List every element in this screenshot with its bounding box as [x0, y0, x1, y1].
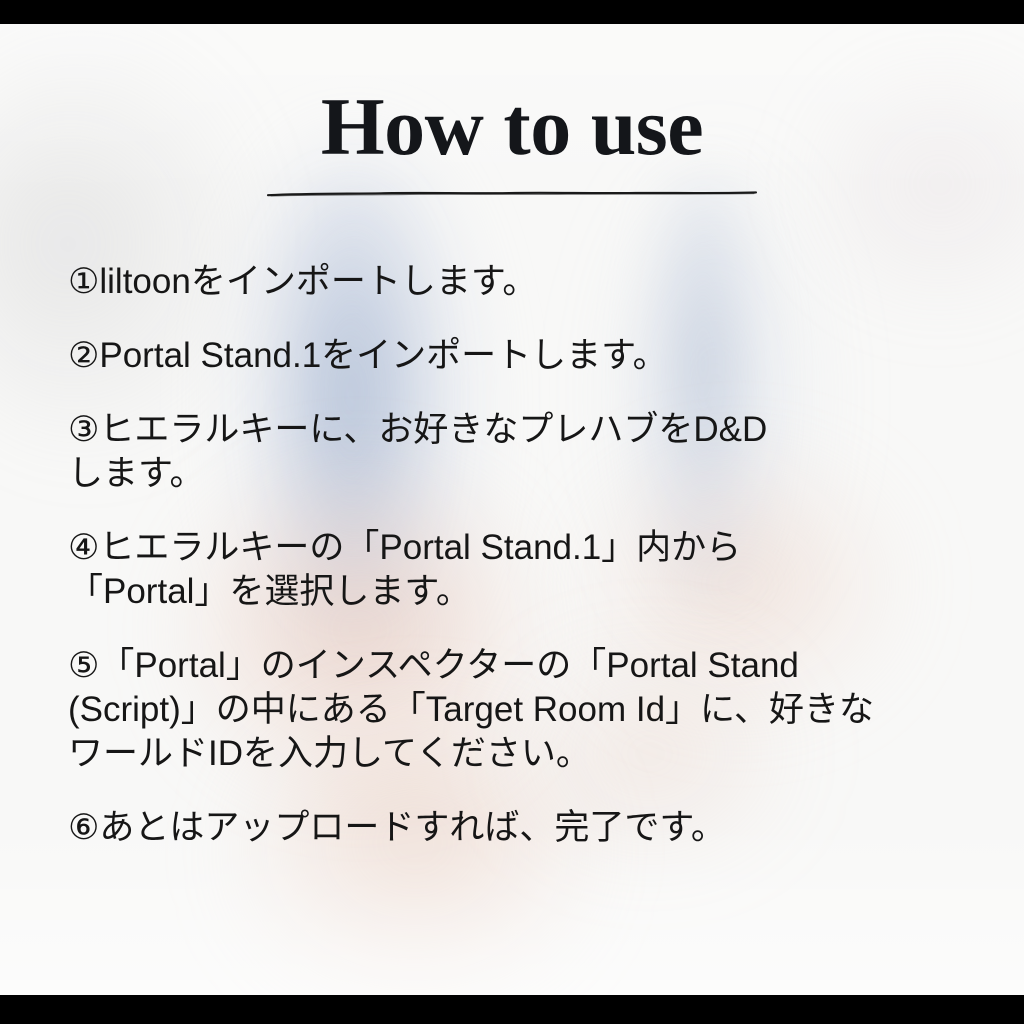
step-line: ①liltoonをインポートします。 [68, 260, 978, 304]
step-line: (Script)」の中にある「Target Room Id」に、好きな [68, 688, 978, 732]
title-block: How to use [0, 79, 1024, 199]
slide-root: How to use ①liltoonをインポートします。 ②Portal St… [0, 0, 1024, 1024]
step-line: します。 [68, 452, 978, 496]
page-title: How to use [0, 79, 1024, 175]
list-item: ⑥あとはアップロードすれば、完了です。 [68, 806, 978, 850]
steps-list: ①liltoonをインポートします。 ②Portal Stand.1をインポート… [68, 260, 978, 850]
list-item: ③ヒエラルキーに、お好きなプレハブをD&D します。 [68, 408, 978, 496]
letterbox-bar-top [0, 0, 1024, 24]
step-line: ワールドIDを入力してください。 [68, 732, 978, 776]
step-line: ⑤「Portal」のインスペクターの「Portal Stand [68, 644, 978, 688]
list-item: ⑤「Portal」のインスペクターの「Portal Stand (Script)… [68, 644, 978, 776]
list-item: ④ヒエラルキーの「Portal Stand.1」内から 「Portal」を選択し… [68, 526, 978, 614]
step-line: ③ヒエラルキーに、お好きなプレハブをD&D [68, 408, 978, 452]
step-line: ④ヒエラルキーの「Portal Stand.1」内から [68, 526, 978, 570]
letterbox-bar-bottom [0, 995, 1024, 1024]
slide-canvas: How to use ①liltoonをインポートします。 ②Portal St… [0, 24, 1024, 995]
step-line: ⑥あとはアップロードすれば、完了です。 [68, 806, 978, 850]
hand-drawn-underline-icon [267, 189, 757, 199]
list-item: ①liltoonをインポートします。 [68, 260, 978, 304]
slide-content: How to use ①liltoonをインポートします。 ②Portal St… [0, 24, 1024, 995]
list-item: ②Portal Stand.1をインポートします。 [68, 334, 978, 378]
step-line: 「Portal」を選択します。 [68, 570, 978, 614]
step-line: ②Portal Stand.1をインポートします。 [68, 334, 978, 378]
